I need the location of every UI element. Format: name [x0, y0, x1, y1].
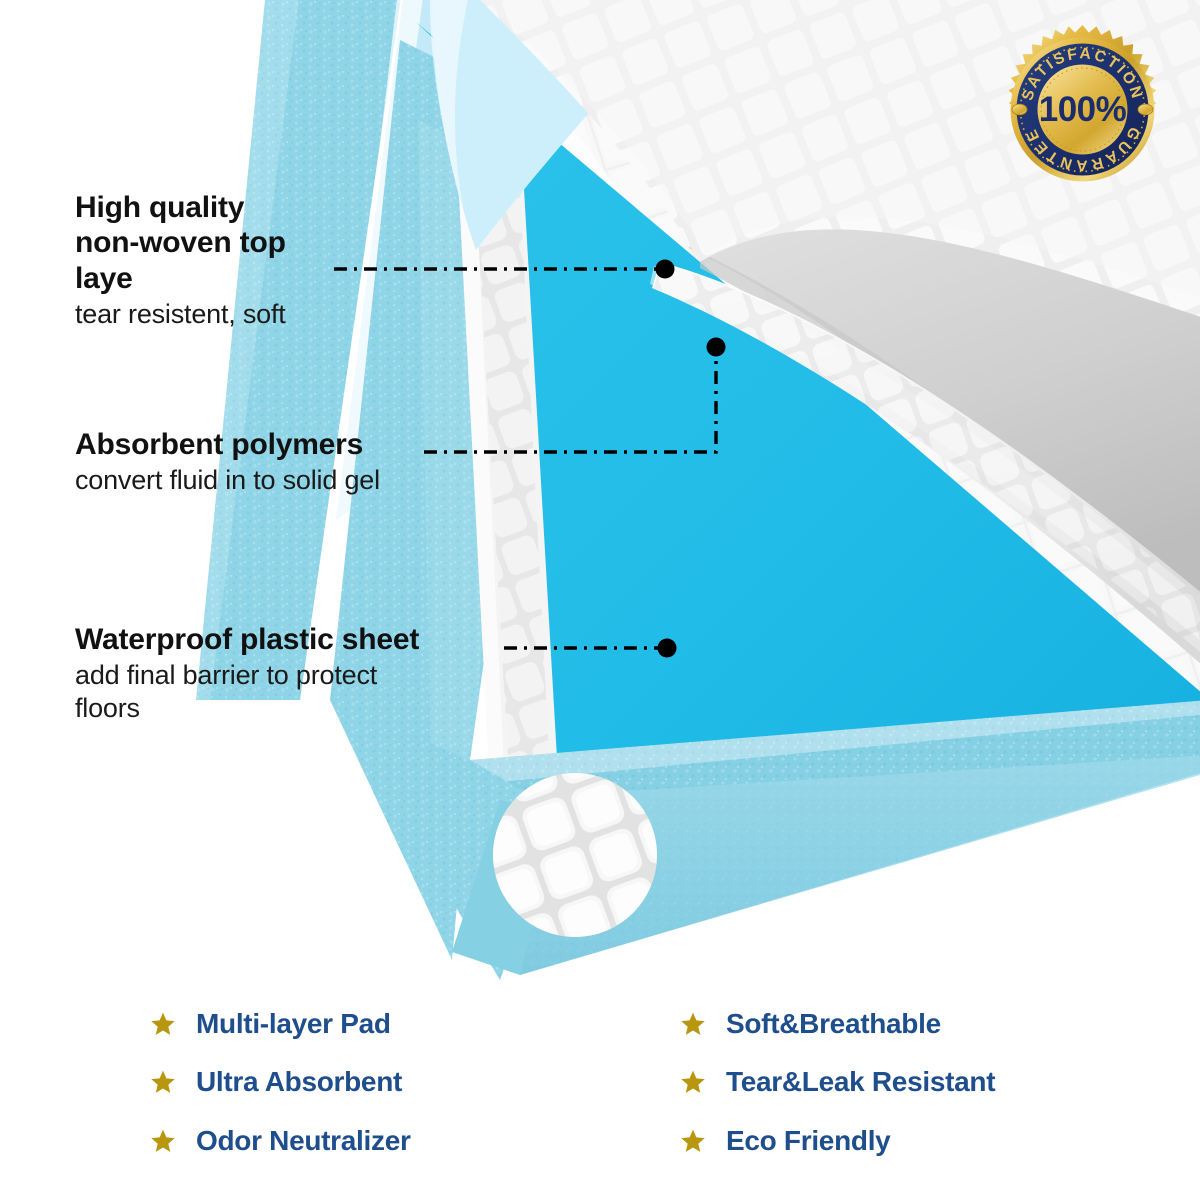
callout-title: Waterproof plastic sheet: [75, 622, 505, 657]
star-icon: [150, 1069, 176, 1095]
quilted-texture-closeup: [493, 773, 657, 937]
feature-item-multi-layer-pad: Multi-layer Pad: [150, 1008, 680, 1040]
feature-label: Ultra Absorbent: [196, 1066, 402, 1098]
feature-label: Eco Friendly: [726, 1125, 890, 1157]
badge-rivet-right: [1138, 104, 1153, 115]
callout-subtitle: convert fluid in to solid gel: [75, 464, 505, 496]
callout-waterproof-plastic-sheet: Waterproof plastic sheet add final barri…: [75, 622, 505, 724]
feature-item-ultra-absorbent: Ultra Absorbent: [150, 1066, 680, 1098]
callout-absorbent-polymers: Absorbent polymers convert fluid in to s…: [75, 427, 505, 497]
callout-non-woven-top-layer: High quality non-woven top laye tear res…: [75, 190, 375, 331]
star-icon: [150, 1011, 176, 1037]
leader-dot-top: [656, 260, 675, 279]
feature-item-soft-breathable: Soft&Breathable: [680, 1008, 1130, 1040]
feature-list: Multi-layer Pad Soft&Breathable Ultra Ab…: [150, 995, 1130, 1170]
feature-label: Odor Neutralizer: [196, 1125, 411, 1157]
star-icon: [150, 1128, 176, 1154]
infographic-canvas: High quality non-woven top laye tear res…: [0, 0, 1200, 1200]
feature-item-tear-leak-resistant: Tear&Leak Resistant: [680, 1066, 1130, 1098]
badge-rivet-left: [1012, 104, 1027, 115]
feature-label: Soft&Breathable: [726, 1008, 941, 1040]
badge-center-text: 100%: [1039, 90, 1127, 129]
star-icon: [680, 1069, 706, 1095]
callout-title: Absorbent polymers: [75, 427, 505, 462]
star-icon: [680, 1128, 706, 1154]
feature-item-eco-friendly: Eco Friendly: [680, 1125, 1130, 1157]
callout-subtitle: add final barrier to protect floors: [75, 659, 505, 724]
satisfaction-guarantee-badge: SATISFACTION GUARANTEE 100%: [995, 22, 1170, 197]
callout-title: High quality non-woven top laye: [75, 190, 375, 296]
star-icon: [680, 1011, 706, 1037]
feature-label: Tear&Leak Resistant: [726, 1066, 995, 1098]
leader-dot-bot: [658, 639, 677, 658]
feature-label: Multi-layer Pad: [196, 1008, 391, 1040]
feature-item-odor-neutralizer: Odor Neutralizer: [150, 1125, 680, 1157]
leader-dot-mid: [707, 338, 726, 357]
callout-subtitle: tear resistent, soft: [75, 298, 375, 330]
